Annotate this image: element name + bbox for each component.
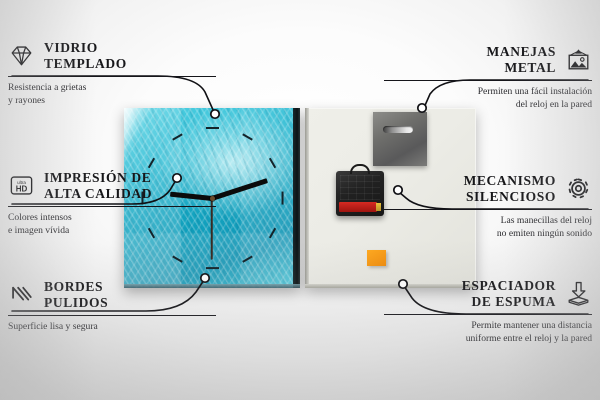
- feature-title-line2: ALTA CALIDAD: [44, 186, 152, 202]
- foam-spacer: [367, 250, 386, 266]
- feature-title-line2: TEMPLADO: [44, 56, 127, 72]
- feature-title-line2: DE ESPUMA: [462, 294, 556, 310]
- feature-divider: [384, 314, 592, 316]
- gear-icon: [565, 175, 592, 202]
- feature-manejas-metal: MANEJAS METAL Permiten una fácil instala…: [384, 44, 592, 112]
- arrow-press-pad-icon: [565, 280, 592, 307]
- battery: [339, 202, 377, 212]
- panel-right-edge: [293, 108, 300, 288]
- clock-tick: [281, 191, 283, 204]
- movement-texture: [340, 175, 380, 200]
- feature-desc-line2: del reloj en la pared: [384, 99, 592, 112]
- feature-bordes-pulidos: BORDES PULIDOS Superficie lisa y segura: [8, 279, 216, 334]
- feature-desc-line2: no emiten ningún sonido: [384, 228, 592, 241]
- clock-tick: [206, 127, 219, 129]
- clock-movement-box: [336, 171, 384, 216]
- diagonal-lines-icon: [8, 281, 35, 308]
- feature-desc-line2: uniforme entre el reloj y la pared: [384, 333, 592, 346]
- feature-desc-line1: Las manecillas del reloj: [384, 215, 592, 228]
- infographic-canvas: VIDRIO TEMPLADO Resistencia a grietas y …: [0, 0, 600, 400]
- feature-title-line1: ESPACIADOR: [462, 278, 556, 294]
- feature-title-line1: MANEJAS: [487, 44, 556, 60]
- feature-vidrio-templado: VIDRIO TEMPLADO Resistencia a grietas y …: [8, 40, 216, 108]
- feature-impresion-alta-calidad: ultra HD IMPRESIÓN DE ALTA CALIDAD Color…: [8, 170, 216, 238]
- feature-title-line2: METAL: [487, 60, 556, 76]
- picture-frame-hanger-icon: [565, 46, 592, 73]
- hanger-keyhole-slot: [383, 126, 413, 133]
- feature-desc-line2: e imagen vívida: [8, 225, 216, 238]
- feature-desc-line1: Resistencia a grietas: [8, 82, 216, 95]
- feature-divider: [8, 206, 216, 208]
- movement-hanger-loop: [350, 164, 370, 174]
- feature-desc-line1: Colores intensos: [8, 212, 216, 225]
- feature-desc-line2: y rayones: [8, 95, 216, 108]
- feature-title-line2: PULIDOS: [44, 295, 108, 311]
- feature-title-line1: VIDRIO: [44, 40, 127, 56]
- feature-divider: [384, 209, 592, 211]
- feature-desc-line1: Permite mantener una distancia: [384, 320, 592, 333]
- svg-text:HD: HD: [16, 185, 28, 194]
- feature-espaciador-espuma: ESPACIADOR DE ESPUMA Permite mantener un…: [384, 278, 592, 346]
- feature-title-line1: BORDES: [44, 279, 108, 295]
- feature-mecanismo-silencioso: MECANISMO SILENCIOSO Las manecillas del …: [384, 173, 592, 241]
- feature-title-line1: IMPRESIÓN DE: [44, 170, 152, 186]
- ultra-hd-icon: ultra HD: [8, 172, 35, 199]
- feature-divider: [8, 76, 216, 78]
- back-left-edge: [305, 108, 309, 288]
- feature-divider: [8, 315, 216, 317]
- feature-title-line2: SILENCIOSO: [464, 189, 556, 205]
- clock-tick: [206, 267, 219, 269]
- feature-title-line1: MECANISMO: [464, 173, 556, 189]
- metal-hanger-plate: [373, 112, 427, 166]
- feature-divider: [384, 80, 592, 82]
- diamond-icon: [8, 42, 35, 69]
- feature-desc-line1: Superficie lisa y segura: [8, 321, 216, 334]
- feature-desc-line1: Permiten una fácil instalación: [384, 86, 592, 99]
